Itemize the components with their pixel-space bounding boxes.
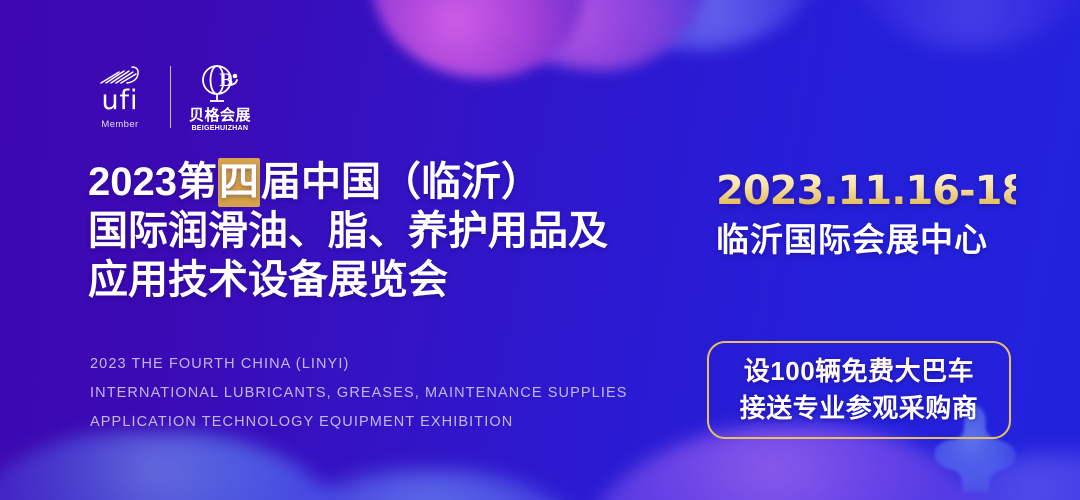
headline-line-2: 国际润滑油、脂、养护用品及 [88, 207, 668, 256]
headline-edition-highlight: 四 [218, 158, 260, 207]
shuttle-badge-line-1: 设100辆免费大巴车 [744, 353, 974, 390]
headline-line-1: 2023第四届中国（临沂） [88, 158, 668, 207]
shuttle-bus-badge: 设100辆免费大巴车 接送专业参观采购商 [707, 341, 1011, 439]
ufi-member-label: Member [101, 119, 138, 130]
organizer-name-en: BEIGEHUIZHAN [192, 125, 249, 132]
event-date-block: 2023.11.16-18 临沂国际会展中心 [716, 168, 1016, 262]
headline-line-1-suffix: 届中国（临沂） [261, 160, 541, 204]
exhibition-promo-banner: ufi Member B 贝格会展 BEIGEHUIZHA [0, 0, 1080, 500]
logo-divider [170, 66, 171, 128]
ufi-member-logo: ufi Member [88, 65, 152, 130]
organizer-logo: B 贝格会展 BEIGEHUIZHAN [189, 63, 251, 132]
subtitle-line-2: INTERNATIONAL LUBRICANTS, GREASES, MAINT… [90, 379, 690, 408]
organizer-name-cn: 贝格会展 [189, 108, 251, 123]
headline-line-3: 应用技术设备展览会 [88, 256, 668, 305]
subtitle-line-3: APPLICATION TECHNOLOGY EQUIPMENT EXHIBIT… [90, 408, 690, 437]
svg-text:B: B [219, 71, 233, 91]
logo-row: ufi Member B 贝格会展 BEIGEHUIZHA [88, 58, 251, 136]
subtitle-line-1: 2023 THE FOURTH CHINA (LINYI) [90, 350, 690, 379]
ufi-wordmark: ufi [101, 87, 138, 114]
beige-globe-b-icon: B [194, 63, 246, 105]
event-date: 2023.11.16-18 [716, 168, 1016, 214]
event-venue: 临沂国际会展中心 [716, 218, 1016, 262]
ufi-swoosh-icon [97, 65, 143, 85]
shuttle-badge-line-2: 接送专业参观采购商 [740, 390, 979, 427]
headline-block: 2023第四届中国（临沂） 国际润滑油、脂、养护用品及 应用技术设备展览会 [88, 158, 668, 305]
headline-line-1-prefix: 2023第 [88, 160, 217, 204]
subtitle-block: 2023 THE FOURTH CHINA (LINYI) INTERNATIO… [90, 350, 690, 437]
